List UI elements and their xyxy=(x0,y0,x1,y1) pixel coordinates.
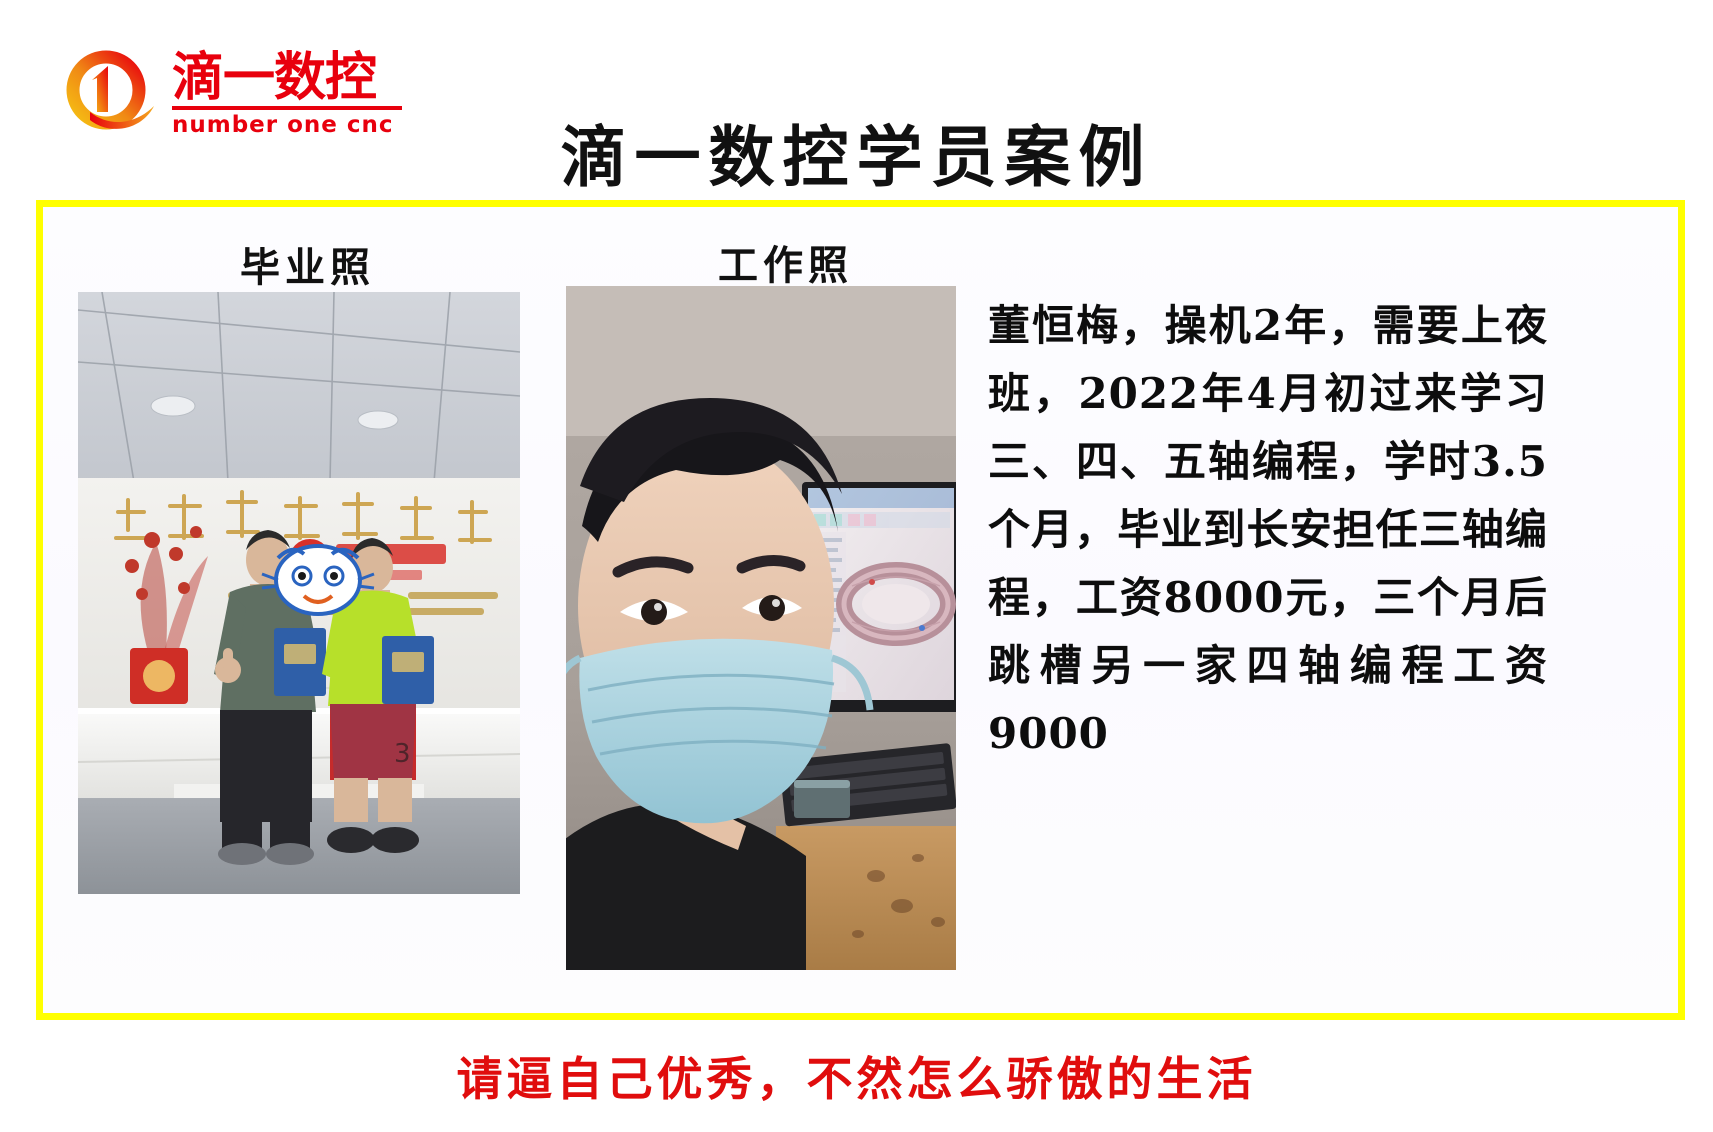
svg-text:3: 3 xyxy=(394,739,411,769)
brand-name-cn: 滴一数控 xyxy=(172,50,402,106)
photo-graduation: 3 xyxy=(78,292,520,894)
photo-work xyxy=(566,286,956,970)
photo-caption-graduation: 毕业照 xyxy=(240,235,375,293)
photo-caption-work: 工作照 xyxy=(718,233,853,291)
page-title: 滴一数控学员案例 xyxy=(0,104,1713,200)
footer-slogan: 请逼自己优秀，不然怎么骄傲的生活 xyxy=(0,1043,1713,1109)
student-case-text: 董恒梅，操机2年，需要上夜班，2022年4月初过来学习三、四、五轴编程，学时3.… xyxy=(988,292,1548,768)
